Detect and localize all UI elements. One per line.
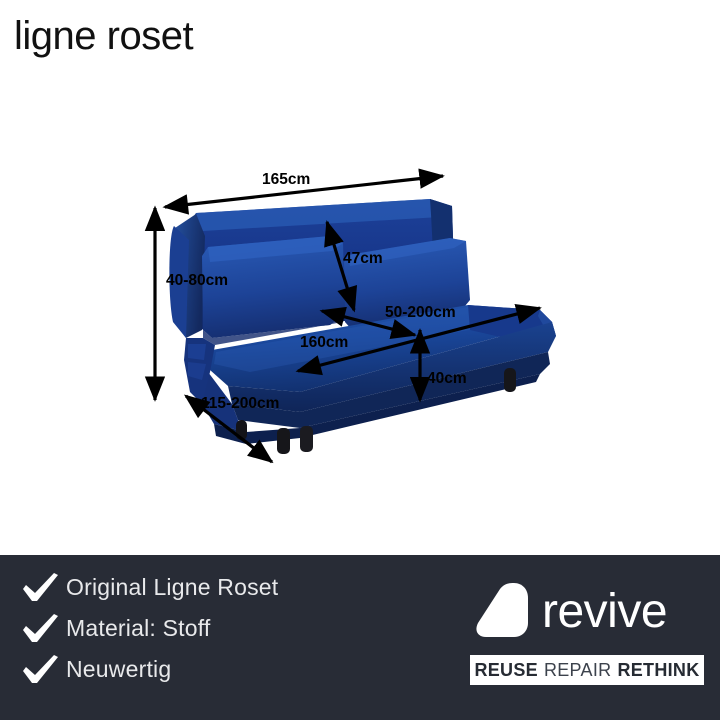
tagline-reuse: REUSE [474,660,538,681]
revive-blob-icon [470,579,536,645]
dim-label-1: 40-80cm [166,272,228,289]
product-panel: ligne roset [0,0,720,555]
revive-branding: revive REUSE REPAIR RETHINK [470,573,708,685]
revive-logo: revive [470,573,708,651]
check-icon [18,569,66,607]
feature-item: Original Ligne Roset [18,567,398,608]
dim-label-4: 160cm [300,334,348,351]
feature-label: Neuwertig [66,656,171,683]
dim-label-2: 47cm [343,250,383,267]
sofa-graphic [169,199,556,454]
product-image: ligne roset [0,0,720,720]
check-icon [18,651,66,689]
product-illustration: 165cm 40-80cm 47cm 50-2 [0,0,720,555]
revive-tagline: REUSE REPAIR RETHINK [470,655,704,685]
feature-item: Material: Stoff [18,608,398,649]
dim-label-3: 50-200cm [385,304,456,321]
dim-label-0: 165cm [262,171,310,188]
revive-wordmark: revive [542,588,667,636]
dim-label-5: 40cm [427,370,467,387]
check-icon [18,610,66,648]
dim-label-6: 115-200cm [201,395,279,412]
feature-list: Original Ligne Roset Material: Stoff Neu… [18,567,398,690]
info-bar: Original Ligne Roset Material: Stoff Neu… [0,555,720,720]
feature-item: Neuwertig [18,649,398,690]
feature-label: Original Ligne Roset [66,574,278,601]
tagline-repair: REPAIR [544,660,611,681]
tagline-rethink: RETHINK [617,660,699,681]
feature-label: Material: Stoff [66,615,210,642]
